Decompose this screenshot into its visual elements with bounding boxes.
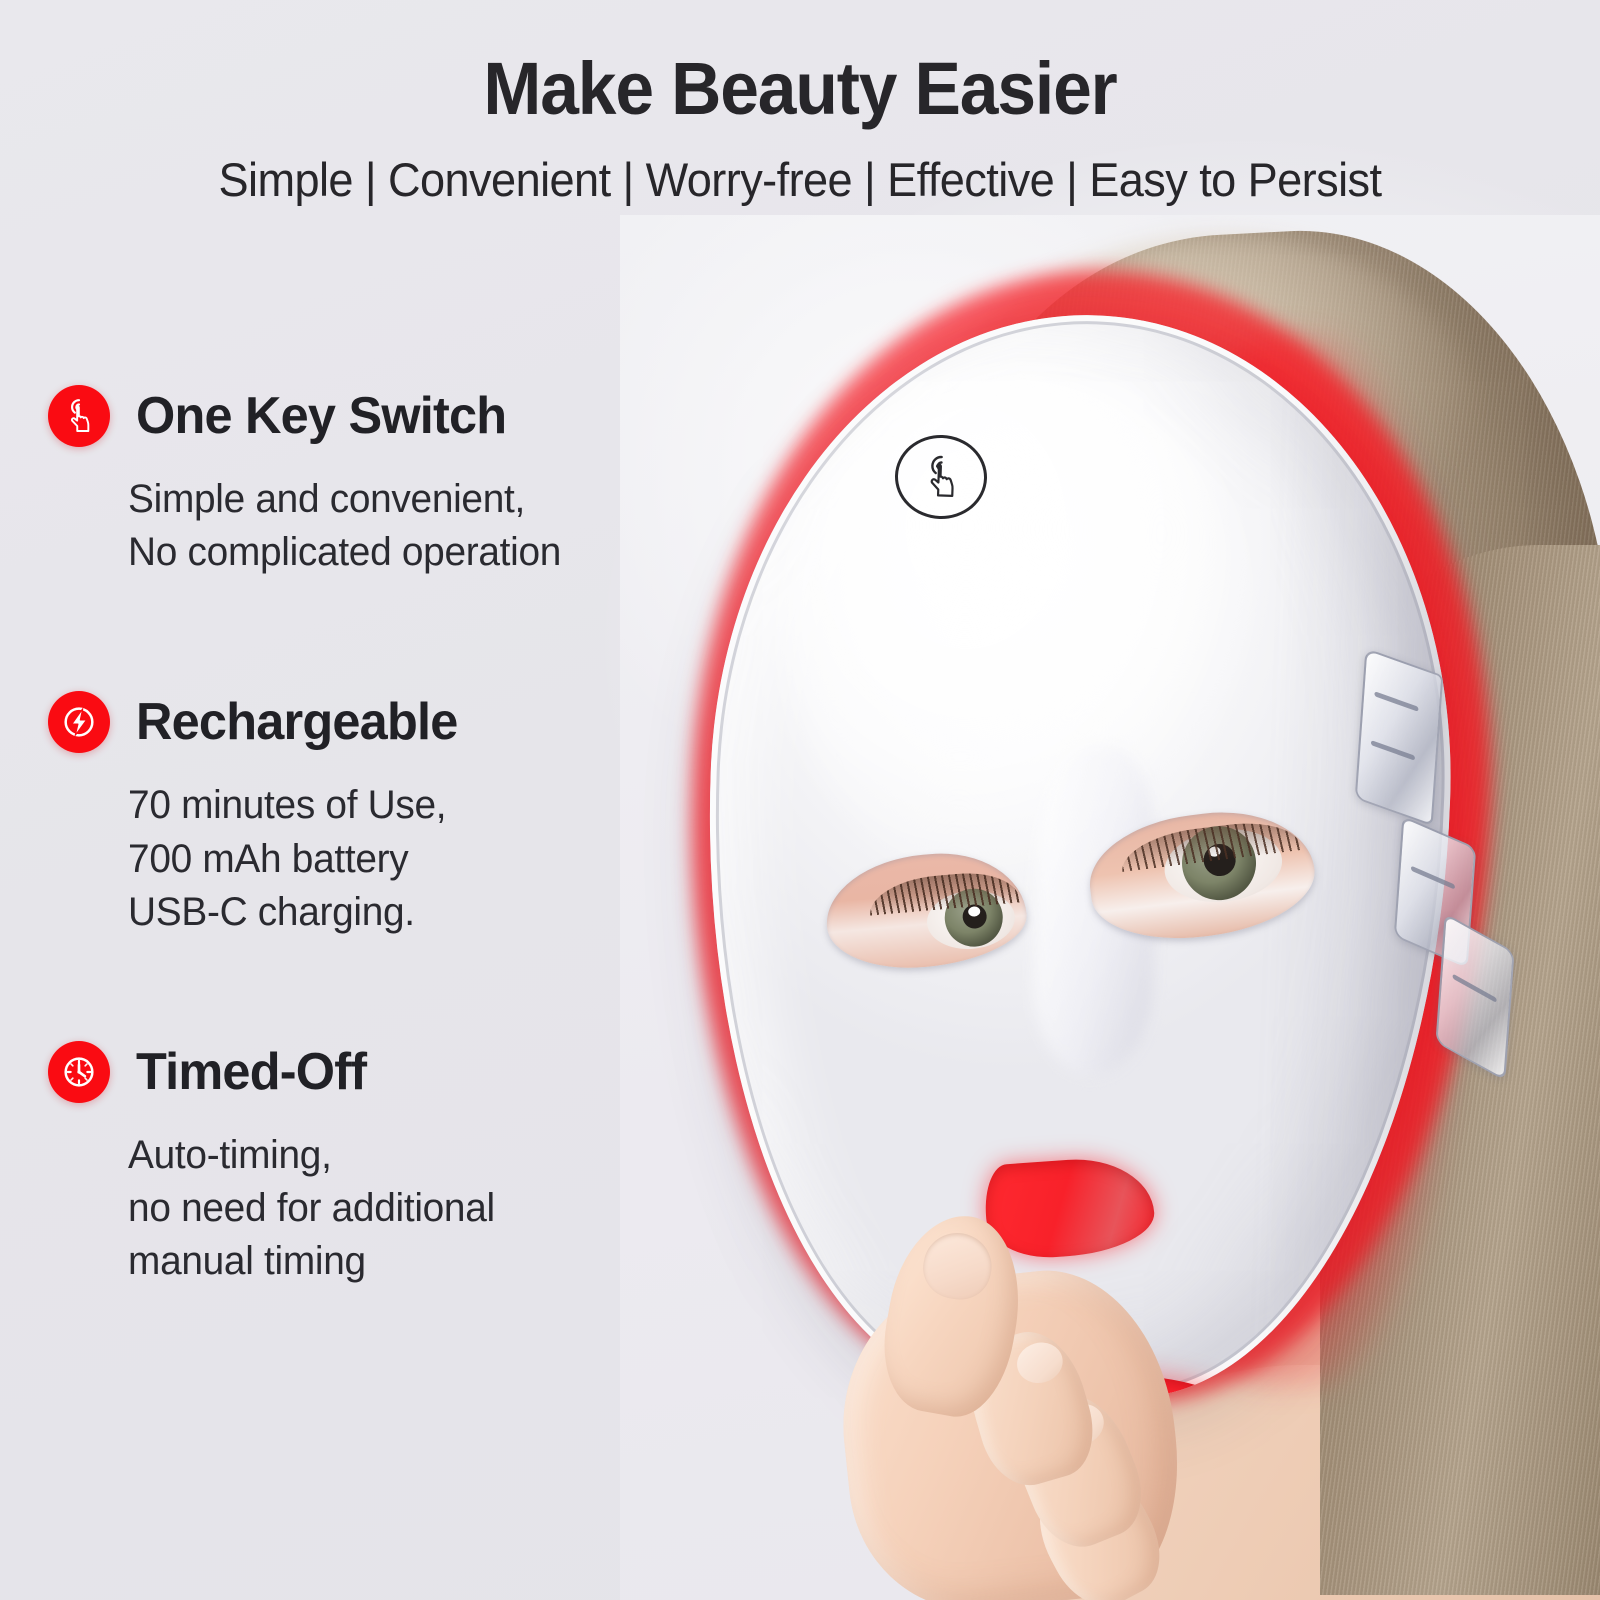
promo-banner: Make Beauty Easier Simple | Convenient |…: [0, 0, 1600, 1600]
feature-one-key-switch: One Key Switch Simple and convenient, No…: [0, 385, 720, 579]
lightning-bolt-icon: [48, 691, 110, 753]
feature-title: Rechargeable: [136, 696, 458, 748]
feature-title: One Key Switch: [136, 390, 506, 442]
page-title: Make Beauty Easier: [48, 52, 1552, 126]
feature-description: Auto-timing, no need for additional manu…: [0, 1129, 698, 1289]
feature-heading-row: Rechargeable: [0, 691, 720, 753]
feature-list: One Key Switch Simple and convenient, No…: [0, 385, 720, 1289]
feature-description: Simple and convenient, No complicated op…: [0, 473, 698, 579]
page-subtitle: Simple | Convenient | Worry-free | Effec…: [32, 156, 1568, 203]
header: Make Beauty Easier Simple | Convenient |…: [0, 0, 1600, 203]
feature-timed-off: Timed-Off Auto-timing, no need for addit…: [0, 1041, 720, 1289]
touch-tap-icon: [48, 385, 110, 447]
feature-description: 70 minutes of Use, 700 mAh battery USB-C…: [0, 779, 698, 939]
feature-heading-row: Timed-Off: [0, 1041, 720, 1103]
feature-rechargeable: Rechargeable 70 minutes of Use, 700 mAh …: [0, 691, 720, 939]
thumbnail: [918, 1228, 996, 1305]
model-hand: [845, 1215, 1265, 1600]
feature-heading-row: One Key Switch: [0, 385, 720, 447]
clock-icon: [48, 1041, 110, 1103]
feature-title: Timed-Off: [136, 1046, 366, 1098]
mask-side-clip: [1355, 648, 1444, 826]
